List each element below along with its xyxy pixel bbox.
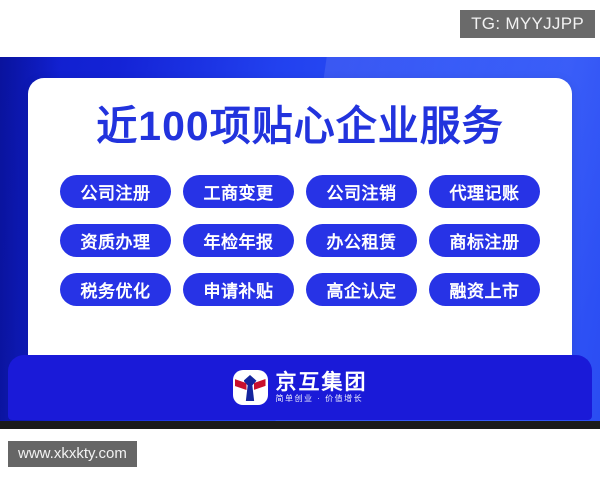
brand-text-block: 京互集团 简单创业 · 价值增长 (276, 372, 368, 403)
service-pill-trademark-registration[interactable]: 商标注册 (429, 224, 540, 257)
telegram-watermark: TG: MYYJJPP (460, 10, 595, 38)
bottom-dark-strip (0, 421, 600, 429)
page-title: 近100项贴心企业服务 (28, 78, 572, 147)
service-pill-financing-ipo[interactable]: 融资上市 (429, 273, 540, 306)
service-pill-qualification-handling[interactable]: 资质办理 (60, 224, 171, 257)
brand-tagline: 简单创业 · 价值增长 (276, 395, 364, 403)
jinghu-logo-icon (233, 370, 268, 405)
service-row: 公司注册 工商变更 公司注销 代理记账 (60, 175, 540, 208)
poster-canvas: 近100项贴心企业服务 公司注册 工商变更 公司注销 代理记账 资质办理 年检年… (0, 57, 600, 429)
brand-lockup: 京互集团 简单创业 · 价值增长 (233, 370, 368, 405)
service-pill-business-change[interactable]: 工商变更 (183, 175, 294, 208)
service-row: 资质办理 年检年报 办公租赁 商标注册 (60, 224, 540, 257)
service-pill-subsidy-application[interactable]: 申请补贴 (183, 273, 294, 306)
service-pill-bookkeeping-agency[interactable]: 代理记账 (429, 175, 540, 208)
service-row: 税务优化 申请补贴 高企认定 融资上市 (60, 273, 540, 306)
site-watermark: www.xkxkty.com (8, 441, 137, 467)
brand-footer-bar: 京互集团 简单创业 · 价值增长 (8, 355, 592, 420)
service-pill-company-registration[interactable]: 公司注册 (60, 175, 171, 208)
service-pill-annual-inspection-report[interactable]: 年检年报 (183, 224, 294, 257)
service-pill-office-leasing[interactable]: 办公租赁 (306, 224, 417, 257)
service-pill-company-deregistration[interactable]: 公司注销 (306, 175, 417, 208)
service-pill-grid: 公司注册 工商变更 公司注销 代理记账 资质办理 年检年报 办公租赁 商标注册 … (28, 175, 572, 306)
service-card: 近100项贴心企业服务 公司注册 工商变更 公司注销 代理记账 资质办理 年检年… (28, 78, 572, 374)
brand-name: 京互集团 (276, 372, 368, 393)
service-pill-high-tech-certification[interactable]: 高企认定 (306, 273, 417, 306)
service-pill-tax-optimization[interactable]: 税务优化 (60, 273, 171, 306)
